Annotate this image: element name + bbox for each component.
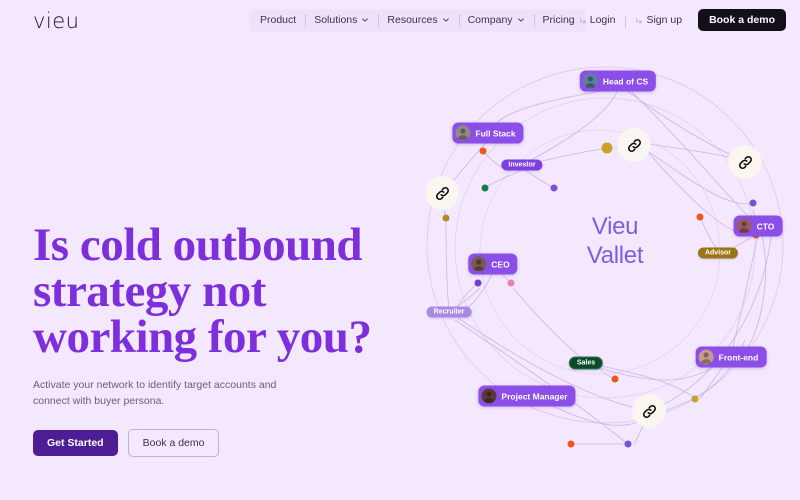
avatar [737,219,752,234]
logo[interactable]: vieu [33,9,80,33]
dot-gold-right [692,396,699,403]
graph-tag-sales[interactable]: Sales [569,357,603,370]
dot-orange-5 [568,441,575,448]
chain-link-icon[interactable] [632,394,666,428]
dot-green-1 [482,185,489,192]
avatar [471,257,486,272]
graph-tag-investor[interactable]: Investor [501,160,542,171]
headline-line-2: strategy not [33,265,266,317]
tag-label: Sales [569,357,603,370]
tag-label: Advisor [698,248,738,259]
graph-person-ceo[interactable]: CEO [468,254,517,275]
graph-person-cto[interactable]: CTO [734,216,783,237]
nav-label: Company [468,9,513,32]
dot-purple-3 [750,200,757,207]
chain-link-icon[interactable] [617,128,651,162]
graph-edges [400,40,800,460]
person-label: Full Stack [475,128,515,138]
corner-down-right-arrow-icon [635,16,643,24]
network-graph: Vieu Vallet InvestorRecruiterSalesAdviso… [400,40,800,460]
nav-item-company[interactable]: Company [459,9,534,32]
tag-label: Investor [501,160,542,171]
login-label: Login [590,14,616,26]
nav-item-solutions[interactable]: Solutions [305,9,378,32]
nav-actions: Login Sign up Book a demo [569,7,786,33]
nav-item-resources[interactable]: Resources [378,9,458,32]
person-label: Front-end [719,352,759,362]
dot-purple-4 [625,441,632,448]
graph-tag-recruiter[interactable]: Recruiter [427,307,472,318]
nav-label: Product [260,9,296,32]
corner-down-right-arrow-icon [579,16,587,24]
chevron-down-icon [442,16,450,24]
book-a-demo-button-nav[interactable]: Book a demo [698,9,786,31]
graph-person-front-end[interactable]: Front-end [696,347,767,368]
person-label: Project Manager [501,391,567,401]
chevron-down-icon [517,16,525,24]
signup-label: Sign up [646,14,682,26]
page-root: vieu Product Solutions Resources Company [0,0,800,500]
graph-person-full-stack[interactable]: Full Stack [452,123,523,144]
person-label: CEO [491,259,509,269]
hero-section: Is cold outbound strategy not working fo… [33,222,433,457]
dot-orange-4 [612,376,619,383]
nav-label: Resources [387,9,437,32]
tag-label: Recruiter [427,307,472,318]
person-label: Head of CS [603,76,648,86]
graph-tag-advisor[interactable]: Advisor [698,248,738,259]
navbar: vieu Product Solutions Resources Company [0,0,800,42]
chain-link-icon[interactable] [425,176,459,210]
login-link[interactable]: Login [569,14,626,26]
dot-gold-left [443,215,450,222]
book-a-demo-button-hero[interactable]: Book a demo [128,429,220,457]
dot-orange-1 [480,148,487,155]
dot-pink-1 [508,280,515,287]
avatar [583,74,598,89]
graph-person-project-manager[interactable]: Project Manager [478,386,575,407]
page-title: Is cold outbound strategy not working fo… [33,222,433,360]
chevron-down-icon [361,16,369,24]
link-node-top[interactable] [617,128,651,162]
main-nav: Product Solutions Resources Company [249,9,586,32]
signup-link[interactable]: Sign up [625,14,692,26]
dot-purple-2 [475,280,482,287]
avatar [481,389,496,404]
link-node-left[interactable] [425,176,459,210]
avatar [455,126,470,141]
dot-orange-2 [697,214,704,221]
hero-cta-row: Get Started Book a demo [33,429,433,457]
graph-person-head-of-cs[interactable]: Head of CS [580,71,656,92]
link-node-bottom[interactable] [632,394,666,428]
headline-line-3: working for you? [33,311,371,363]
avatar [699,350,714,365]
dot-purple-1 [551,185,558,192]
get-started-button[interactable]: Get Started [33,430,118,456]
headline-line-1: Is cold outbound [33,219,362,271]
dot-gold-top [602,143,613,154]
link-node-right[interactable] [728,145,762,179]
nav-label: Solutions [314,9,357,32]
nav-item-product[interactable]: Product [251,9,305,32]
hero-subhead: Activate your network to identify target… [33,377,278,409]
chain-link-icon[interactable] [728,145,762,179]
person-label: CTO [757,221,775,231]
